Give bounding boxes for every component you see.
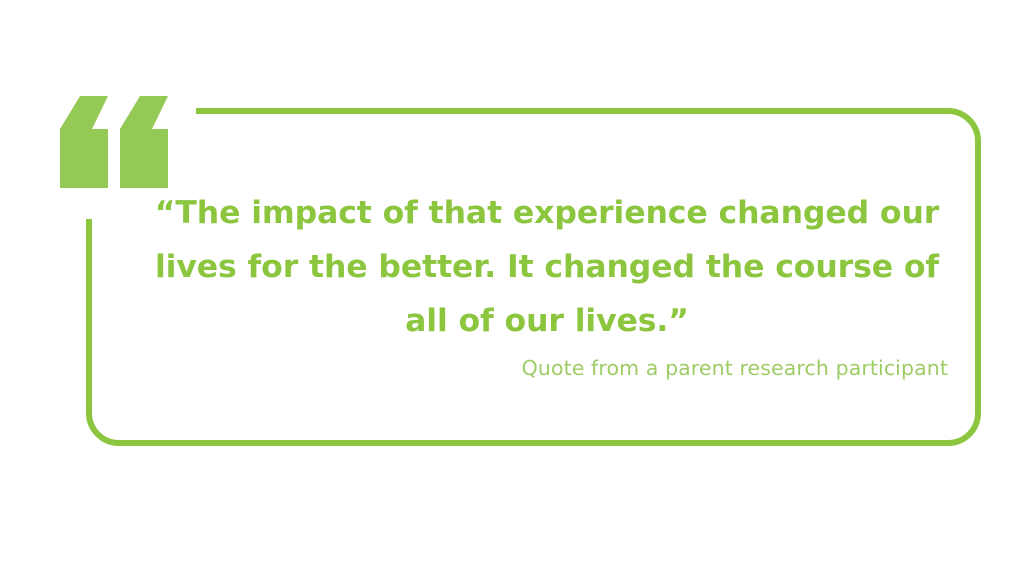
quote-body: “The impact of that experience changed o…: [146, 186, 948, 382]
quote-text: “The impact of that experience changed o…: [146, 186, 948, 348]
quote-attribution: Quote from a parent research participant: [146, 354, 948, 382]
open-double-quote-icon: [58, 96, 170, 192]
quote-slide: “The impact of that experience changed o…: [0, 0, 1024, 576]
quote-mark-left-glyph: [60, 96, 108, 188]
quote-mark-right-glyph: [120, 96, 168, 188]
